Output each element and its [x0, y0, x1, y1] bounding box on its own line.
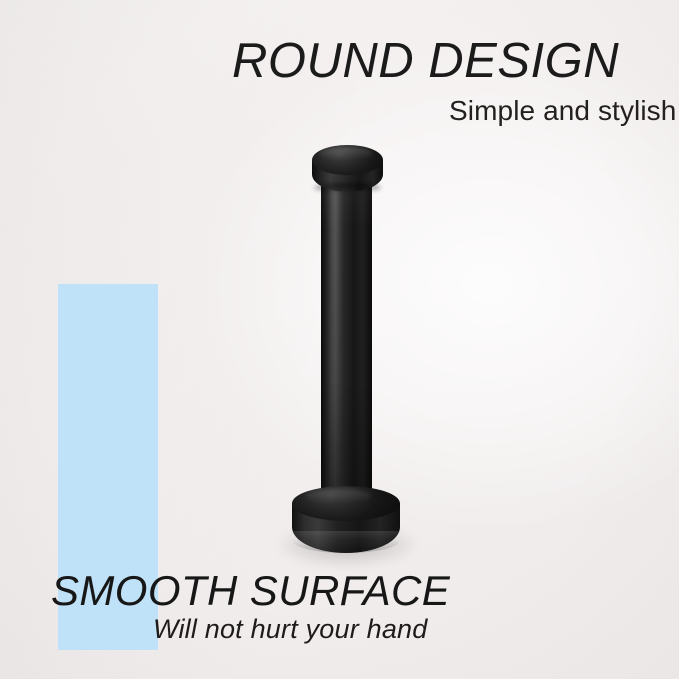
bottom-subline: Will not hurt your hand: [153, 614, 428, 645]
top-headline: ROUND DESIGN: [232, 36, 619, 87]
bottom-headline: SMOOTH SURFACE: [51, 568, 450, 613]
product-feature-image: ROUND DESIGN Simple and stylish SMOOTH S…: [0, 0, 679, 679]
top-subline: Simple and stylish: [449, 95, 676, 127]
